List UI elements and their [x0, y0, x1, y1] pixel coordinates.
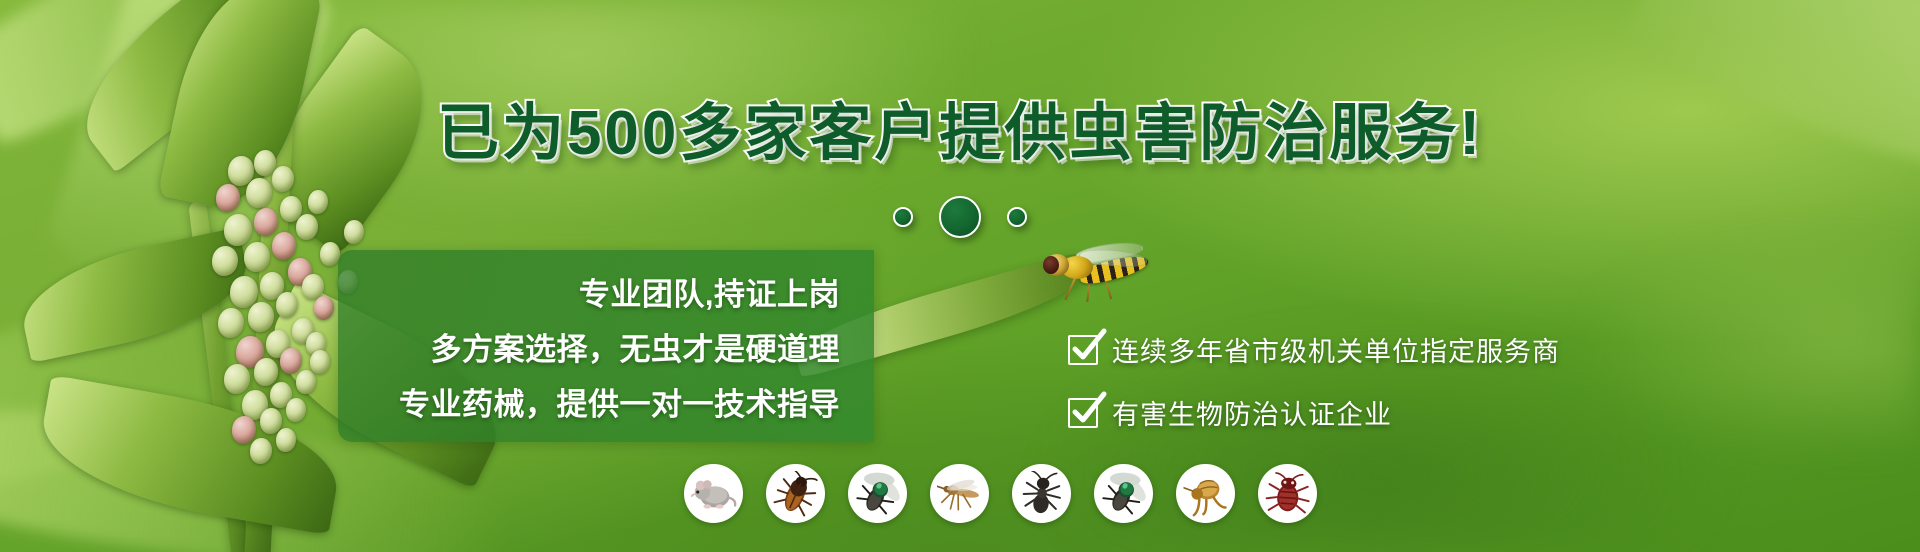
credential-item: 连续多年省市级机关单位指定服务商 [1068, 330, 1560, 369]
plant-bud [310, 350, 330, 374]
hoverfly-leg [1065, 276, 1077, 301]
selling-point-line-1: 专业团队,持证上岗 [579, 269, 840, 314]
plant-bud [218, 308, 244, 338]
promo-banner: 已为500多家客户提供虫害防治服务! 专业团队,持证上岗 多方案选择，无虫才是硬… [0, 0, 1920, 552]
selling-points-panel: 专业团队,持证上岗 多方案选择，无虫才是硬道理 专业药械，提供一对一技术指导 [338, 250, 874, 442]
selling-point-line-2: 多方案选择，无虫才是硬道理 [431, 324, 841, 369]
fly-icon-2[interactable] [1094, 464, 1153, 523]
hoverfly-eye [1043, 256, 1059, 274]
checkbox-check-icon [1068, 335, 1098, 365]
plant-bud [276, 428, 296, 452]
plant-bud [296, 370, 316, 394]
decorative-dot-large [939, 196, 981, 238]
ant-icon[interactable] [1012, 464, 1071, 523]
hoverfly [1035, 242, 1155, 302]
plant-bud [280, 348, 302, 374]
plant-bud [276, 292, 298, 318]
decorative-dot-small [893, 207, 913, 227]
decorative-dot-small [1007, 207, 1027, 227]
credential-label: 有害生物防治认证企业 [1112, 393, 1392, 432]
mosquito-icon[interactable] [930, 464, 989, 523]
credential-label: 连续多年省市级机关单位指定服务商 [1112, 330, 1560, 369]
decorative-dots [0, 196, 1920, 238]
plant-bud [254, 358, 278, 386]
bedbug-icon[interactable] [1258, 464, 1317, 523]
credential-item: 有害生物防治认证企业 [1068, 393, 1560, 432]
plant-bud [244, 242, 270, 272]
credentials-list: 连续多年省市级机关单位指定服务商 有害生物防治认证企业 [1068, 330, 1560, 432]
checkbox-check-icon [1068, 398, 1098, 428]
pest-icon-row [684, 464, 1317, 523]
plant-bud [320, 242, 340, 266]
plant-bud [232, 416, 256, 444]
mouse-icon[interactable] [684, 464, 743, 523]
plant-bud [248, 302, 274, 332]
fly-icon[interactable] [848, 464, 907, 523]
banner-headline: 已为500多家客户提供虫害防治服务! [0, 82, 1920, 172]
selling-point-line-3: 专业药械，提供一对一技术指导 [399, 379, 840, 424]
plant-bud [286, 398, 306, 422]
cockroach-icon[interactable] [766, 464, 825, 523]
plant-bud [212, 246, 238, 276]
plant-bud [224, 364, 250, 394]
plant-bud [314, 296, 334, 320]
flea-icon[interactable] [1176, 464, 1235, 523]
plant-bud [250, 438, 272, 464]
